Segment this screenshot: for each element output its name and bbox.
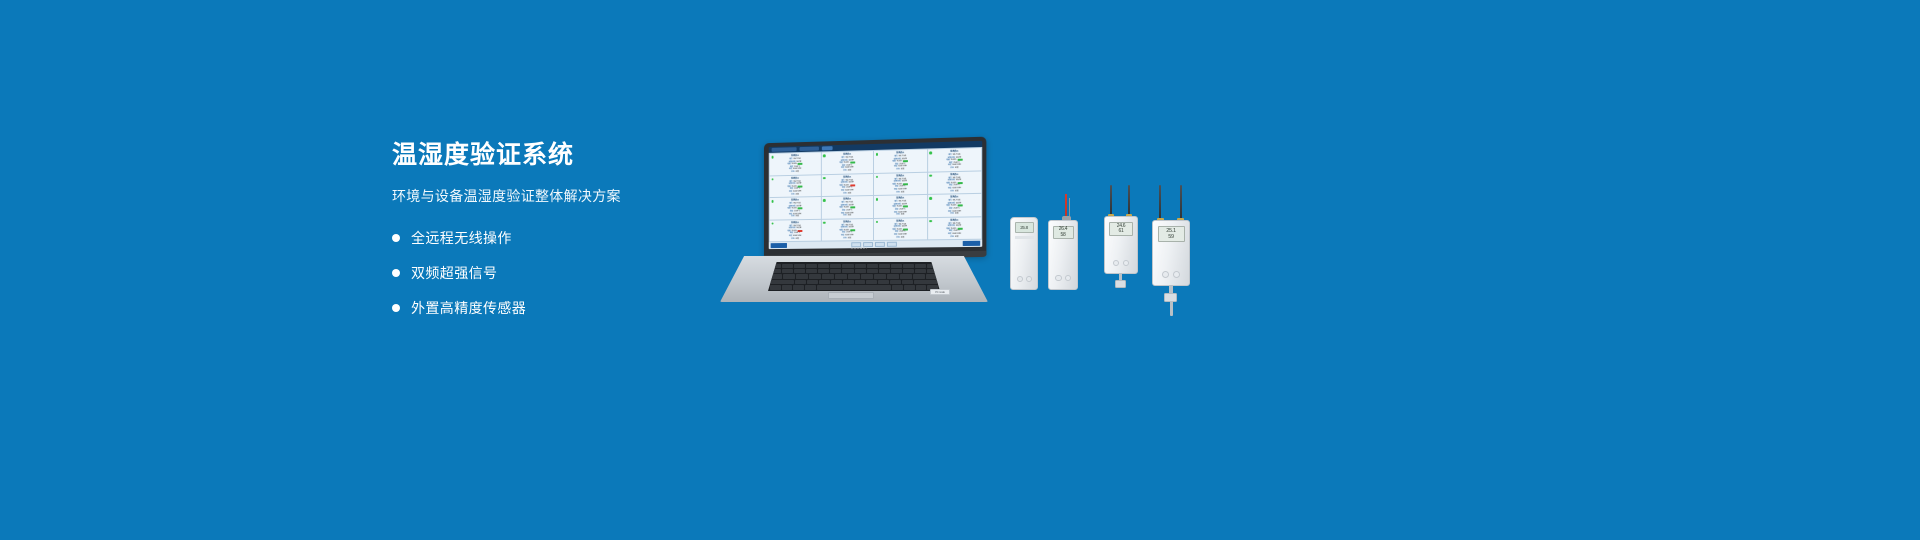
keyboard-row (770, 274, 938, 278)
keyboard-key[interactable] (795, 280, 806, 284)
card-row: 状态正常 (771, 193, 820, 197)
card-row-value: 正常 (955, 190, 959, 193)
keyboard-row (770, 264, 938, 268)
keyboard-key[interactable] (867, 264, 878, 268)
status-led-icon (823, 221, 826, 224)
list-item: 全远程无线操作 (392, 228, 722, 248)
status-badge (903, 206, 908, 208)
card-row-value: 正常 (901, 214, 904, 217)
device-keypad (1153, 271, 1189, 278)
card-row-value: 正常 (955, 236, 959, 239)
keyboard-key[interactable] (891, 269, 902, 273)
status-led-icon (823, 154, 826, 157)
page-2-button[interactable] (874, 242, 884, 247)
device-display: 25.8 (1015, 222, 1034, 233)
laptop-illustration: 监测点01编号SN-TY141采集间隔10分钟电量95.00%温度25.08 ℃… (720, 140, 988, 300)
laptop-keyboard[interactable] (768, 262, 940, 291)
page-title: 温湿度验证系统 (392, 142, 722, 170)
card-row-label: 状态 (896, 236, 899, 239)
device-button[interactable] (1017, 276, 1023, 282)
display-humidity: 59 (1168, 234, 1174, 240)
card-row-value: 正常 (795, 238, 798, 241)
card-row-label: 状态 (950, 167, 954, 170)
tab-projects[interactable] (800, 147, 819, 152)
product-banner: 温湿度验证系统 环境与设备温湿度验证整体解决方案 全远程无线操作 双频超强信号 … (0, 0, 1920, 540)
card-row: 状态正常 (929, 235, 981, 238)
keyboard-key[interactable] (855, 269, 866, 273)
keyboard-key[interactable] (913, 274, 925, 278)
card-row-value: 正常 (795, 171, 798, 174)
keyboard-key[interactable] (855, 280, 866, 284)
keyboard-key[interactable] (770, 285, 781, 289)
keyboard-key[interactable] (879, 269, 890, 273)
bullet-dot-icon (392, 304, 400, 312)
keyboard-key[interactable] (915, 269, 926, 273)
next-page-button[interactable] (886, 242, 896, 247)
sensor-probe (1170, 301, 1173, 316)
new-project-button[interactable] (771, 243, 787, 248)
card-row-label: 状态 (896, 168, 899, 171)
monitor-card[interactable]: 监测点01编号SN-TY141采集间隔10分钟电量95.00%温度25.08 ℃… (874, 172, 927, 195)
keyboard-key[interactable] (822, 274, 834, 278)
card-row: 状态正常 (929, 166, 981, 170)
keyboard-key[interactable] (903, 264, 914, 268)
external-sensor-icon (1115, 280, 1126, 288)
keyboard-key[interactable] (796, 274, 808, 278)
keyboard-key[interactable] (903, 269, 914, 273)
keyboard-key[interactable] (892, 285, 903, 289)
monitor-card[interactable]: 监测点01编号SN-TY141采集间隔10分钟电量95.00%温度25.08 ℃… (928, 148, 982, 171)
keyboard-key[interactable] (842, 264, 853, 268)
keyboard-key[interactable] (793, 285, 804, 289)
monitor-card[interactable]: 监测点01编号SN-TY141采集间隔10分钟电量95.00%温度25.08 ℃… (928, 217, 982, 240)
card-row-label: 状态 (843, 170, 846, 173)
status-badge (957, 205, 962, 207)
device-button[interactable] (1173, 271, 1180, 278)
device-body: 25.1 59 (1152, 220, 1190, 286)
laptop-brand: HUAWEI (851, 246, 867, 250)
device-button[interactable] (1026, 276, 1032, 282)
card-row-label: 状态 (791, 193, 794, 196)
card-row-value: 正常 (848, 192, 851, 195)
keyboard-key[interactable] (842, 269, 853, 273)
keyboard-key[interactable] (915, 264, 926, 268)
keyboard-key[interactable] (855, 264, 866, 268)
status-led-icon (929, 174, 932, 177)
card-row: 状态正常 (875, 168, 926, 172)
keyboard-key[interactable] (818, 269, 829, 273)
keyboard-key[interactable] (867, 269, 878, 273)
keyboard-row (770, 269, 938, 273)
keyboard-key[interactable] (861, 274, 873, 278)
card-row-label: 状态 (843, 237, 846, 240)
keyboard-key[interactable] (914, 280, 938, 284)
keyboard-key[interactable] (848, 274, 860, 278)
card-row-label: 状态 (896, 214, 899, 217)
monitor-card[interactable]: 监测点01编号SN-TY141采集间隔10分钟电量95.00%温度25.08 ℃… (928, 171, 982, 194)
status-led-icon (823, 199, 826, 202)
bullet-dot-icon (392, 234, 400, 242)
antenna-icon (1159, 185, 1161, 219)
monitor-card[interactable]: 监测点01编号SN-TY141采集间隔10分钟电量95.00%温度25.08 ℃… (770, 197, 821, 219)
keyboard-key[interactable] (835, 274, 847, 278)
tab-monitoring[interactable] (772, 147, 797, 152)
status-led-icon (771, 156, 773, 159)
card-row-value: 正常 (901, 191, 904, 194)
card-row-value: 正常 (901, 236, 904, 239)
keyboard-key[interactable] (806, 269, 817, 273)
keyboard-key[interactable] (819, 280, 830, 284)
device-body: 24.6 61 (1104, 216, 1138, 274)
feature-label: 全远程无线操作 (411, 228, 512, 248)
page-subtitle: 环境与设备温湿度验证整体解决方案 (392, 186, 722, 206)
keyboard-key[interactable] (782, 285, 793, 289)
status-led-icon (875, 198, 878, 201)
status-led-icon (823, 177, 826, 180)
keyboard-key[interactable] (831, 280, 842, 284)
keyboard-key[interactable] (782, 264, 793, 268)
keyboard-row (770, 285, 938, 289)
card-row: 状态正常 (875, 213, 926, 216)
device-keypad (1011, 276, 1037, 282)
antenna-icon (1110, 185, 1112, 215)
card-row-label: 状态 (843, 215, 846, 218)
card-row-label: 状态 (791, 238, 794, 241)
card-row: 状态正常 (771, 237, 820, 240)
keyboard-key[interactable] (817, 285, 892, 289)
monitor-card[interactable]: 监测点01编号SN-TY141采集间隔10分钟电量95.00%温度25.08 ℃… (874, 150, 927, 173)
keyboard-key[interactable] (866, 280, 877, 284)
monitor-card[interactable]: 监测点01编号SN-TY141采集间隔10分钟电量95.00%温度25.08 ℃… (770, 152, 821, 175)
monitor-card[interactable]: 监测点01编号SN-TY141采集间隔10分钟电量95.00%温度25.08 ℃… (874, 195, 927, 218)
monitor-card[interactable]: 监测点01编号SN-TY141采集间隔10分钟电量95.00%温度25.08 ℃… (928, 194, 982, 217)
keyboard-row (770, 280, 938, 284)
wireless-sensor-small-device: 24.6 61 (1104, 185, 1140, 288)
keyboard-key[interactable] (805, 285, 816, 289)
card-row-label: 状态 (950, 190, 954, 193)
card-row: 状态正常 (822, 237, 872, 240)
card-row-label: 状态 (896, 191, 899, 194)
keyboard-key[interactable] (874, 274, 886, 278)
laptop-lid: 监测点01编号SN-TY141采集间隔10分钟电量95.00%温度25.08 ℃… (764, 137, 986, 258)
app-bottombar (769, 240, 983, 249)
card-row-value: 正常 (901, 168, 904, 171)
keyboard-key[interactable] (770, 280, 794, 284)
device-keypad (1105, 260, 1137, 266)
keyboard-key[interactable] (902, 280, 913, 284)
device-keypad (1049, 275, 1077, 282)
monitor-card[interactable]: 监测点01编号SN-TY141采集间隔10分钟电量95.00%温度25.08 ℃… (821, 174, 873, 197)
card-row: 状态正常 (822, 214, 872, 217)
device-body: 25.8 (1010, 217, 1038, 290)
card-row-value: 正常 (955, 213, 959, 216)
monitor-card[interactable]: 监测点01编号SN-TY141采集间隔10分钟电量95.00%温度25.08 ℃… (821, 151, 873, 174)
device-label-strip (1015, 236, 1034, 239)
laptop-trackpad[interactable] (828, 292, 874, 299)
device-button[interactable] (1055, 275, 1062, 282)
keyboard-key[interactable] (891, 264, 902, 268)
export-data-button[interactable] (963, 241, 980, 246)
card-row-label: 状态 (791, 171, 794, 174)
keyboard-key[interactable] (818, 264, 829, 268)
antenna-icon (1128, 185, 1130, 215)
keyboard-key[interactable] (806, 264, 817, 268)
display-humidity: 61 (1119, 229, 1124, 235)
monitor-card[interactable]: 监测点01编号SN-TY141采集间隔10分钟电量95.00%温度25.08 ℃… (770, 175, 821, 197)
card-row: 状态正常 (875, 236, 926, 239)
card-row-label: 状态 (950, 236, 954, 239)
card-row-value: 正常 (955, 167, 959, 170)
card-row-value: 正常 (795, 215, 798, 218)
keyboard-key[interactable] (887, 274, 899, 278)
device-lineup: 25.8 26.4 58 (1000, 180, 1220, 320)
keyboard-key[interactable] (783, 274, 795, 278)
device-button[interactable] (1123, 260, 1129, 266)
keyboard-key[interactable] (794, 269, 805, 273)
keyboard-key[interactable] (916, 285, 927, 289)
keyboard-key[interactable] (794, 264, 805, 268)
keyboard-key[interactable] (830, 269, 841, 273)
monitor-card[interactable]: 监测点01编号SN-TY141采集间隔10分钟电量95.00%温度25.08 ℃… (821, 219, 873, 241)
card-row-value: 正常 (848, 237, 851, 240)
status-led-icon (929, 151, 932, 154)
handheld-logger-device: 25.8 (1010, 217, 1038, 290)
laptop-screen: 监测点01编号SN-TY141采集间隔10分钟电量95.00%温度25.08 ℃… (769, 141, 983, 249)
card-row: 状态正常 (822, 169, 872, 173)
banner-copy: 温湿度验证系统 环境与设备温湿度验证整体解决方案 全远程无线操作 双频超强信号 … (392, 142, 722, 333)
device-display: 25.1 59 (1158, 226, 1185, 242)
device-display: 24.6 61 (1109, 222, 1133, 236)
feature-label: 双频超强信号 (411, 263, 497, 283)
card-row-label: 状态 (843, 192, 846, 195)
device-button[interactable] (1162, 271, 1169, 278)
status-led-icon (929, 220, 932, 223)
monitor-card[interactable]: 监测点01编号SN-TY141采集间隔10分钟电量95.00%温度25.08 ℃… (821, 196, 873, 218)
list-item: 外置高精度传感器 (392, 298, 722, 318)
device-button[interactable] (1113, 260, 1119, 266)
tab-data[interactable] (822, 146, 833, 150)
keyboard-key[interactable] (807, 280, 818, 284)
keyboard-key[interactable] (890, 280, 901, 284)
antenna-icon (1180, 185, 1182, 219)
keyboard-key[interactable] (830, 264, 841, 268)
device-button[interactable] (1065, 275, 1072, 282)
feature-list: 全远程无线操作 双频超强信号 外置高精度传感器 (392, 228, 722, 318)
card-row-value: 正常 (795, 193, 798, 196)
card-row-value: 正常 (848, 170, 851, 173)
device-display: 26.4 58 (1053, 226, 1074, 239)
bullet-dot-icon (392, 269, 400, 277)
feature-label: 外置高精度传感器 (411, 298, 526, 318)
display-humidity: 58 (1061, 233, 1066, 239)
card-row-value: 正常 (848, 214, 851, 217)
card-row-label: 状态 (791, 215, 794, 218)
card-row: 状态正常 (771, 170, 820, 174)
keyboard-key[interactable] (900, 274, 912, 278)
keyboard-key[interactable] (904, 285, 915, 289)
card-row: 状态正常 (822, 192, 872, 196)
card-row: 状态正常 (771, 215, 820, 218)
status-led-icon (771, 200, 773, 203)
status-led-icon (875, 153, 878, 156)
monitor-card-grid: 监测点01编号SN-TY141采集间隔10分钟电量95.00%温度25.08 ℃… (769, 147, 983, 243)
laptop-sticker: PC mode (930, 289, 950, 295)
card-row: 状态正常 (929, 189, 981, 193)
keyboard-key[interactable] (879, 264, 890, 268)
list-item: 双频超强信号 (392, 263, 722, 283)
probe-logger-device: 26.4 58 (1048, 194, 1078, 290)
status-led-icon (929, 197, 932, 200)
monitor-card[interactable]: 监测点01编号SN-TY141采集间隔10分钟电量95.00%温度25.08 ℃… (874, 218, 927, 240)
monitor-card[interactable]: 监测点01编号SN-TY141采集间隔10分钟电量95.00%温度25.08 ℃… (770, 220, 821, 242)
keyboard-key[interactable] (843, 280, 854, 284)
card-row-label: 状态 (950, 213, 954, 216)
keyboard-key[interactable] (878, 280, 889, 284)
card-row: 状态正常 (875, 190, 926, 194)
device-body: 26.4 58 (1048, 220, 1078, 290)
keyboard-key[interactable] (809, 274, 821, 278)
keyboard-key[interactable] (782, 269, 793, 273)
card-row: 状态正常 (929, 212, 981, 215)
wireless-sensor-large-device: 25.1 59 (1152, 185, 1192, 317)
